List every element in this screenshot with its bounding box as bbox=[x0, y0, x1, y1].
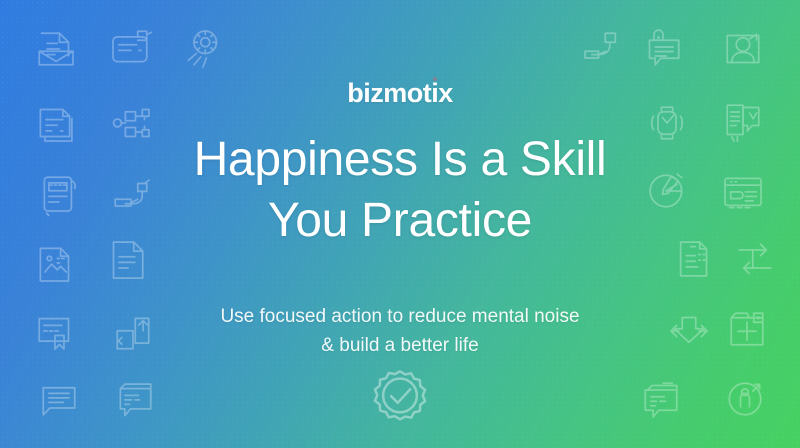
subtitle-line-2: & build a better life bbox=[220, 331, 579, 360]
headline-line-2: You Practice bbox=[194, 190, 607, 251]
brand-logo-text-end: x bbox=[438, 78, 453, 108]
brand-logo-text-a: b bbox=[347, 78, 363, 108]
headline-line-1: Happiness Is a Skill bbox=[194, 129, 607, 190]
brand-logo-text-mid: zmot bbox=[370, 78, 431, 108]
brand-logo-dotted-i: i bbox=[431, 78, 438, 108]
brand-logo: bizmotix bbox=[347, 80, 453, 107]
gear-check-badge-icon bbox=[364, 364, 436, 436]
subtitle-line-1: Use focused action to reduce mental nois… bbox=[220, 302, 579, 331]
page-title: Happiness Is a Skill You Practice bbox=[194, 129, 607, 252]
subtitle: Use focused action to reduce mental nois… bbox=[220, 302, 579, 361]
promo-banner: bizmotix Happiness Is a Skill You Practi… bbox=[0, 0, 800, 448]
